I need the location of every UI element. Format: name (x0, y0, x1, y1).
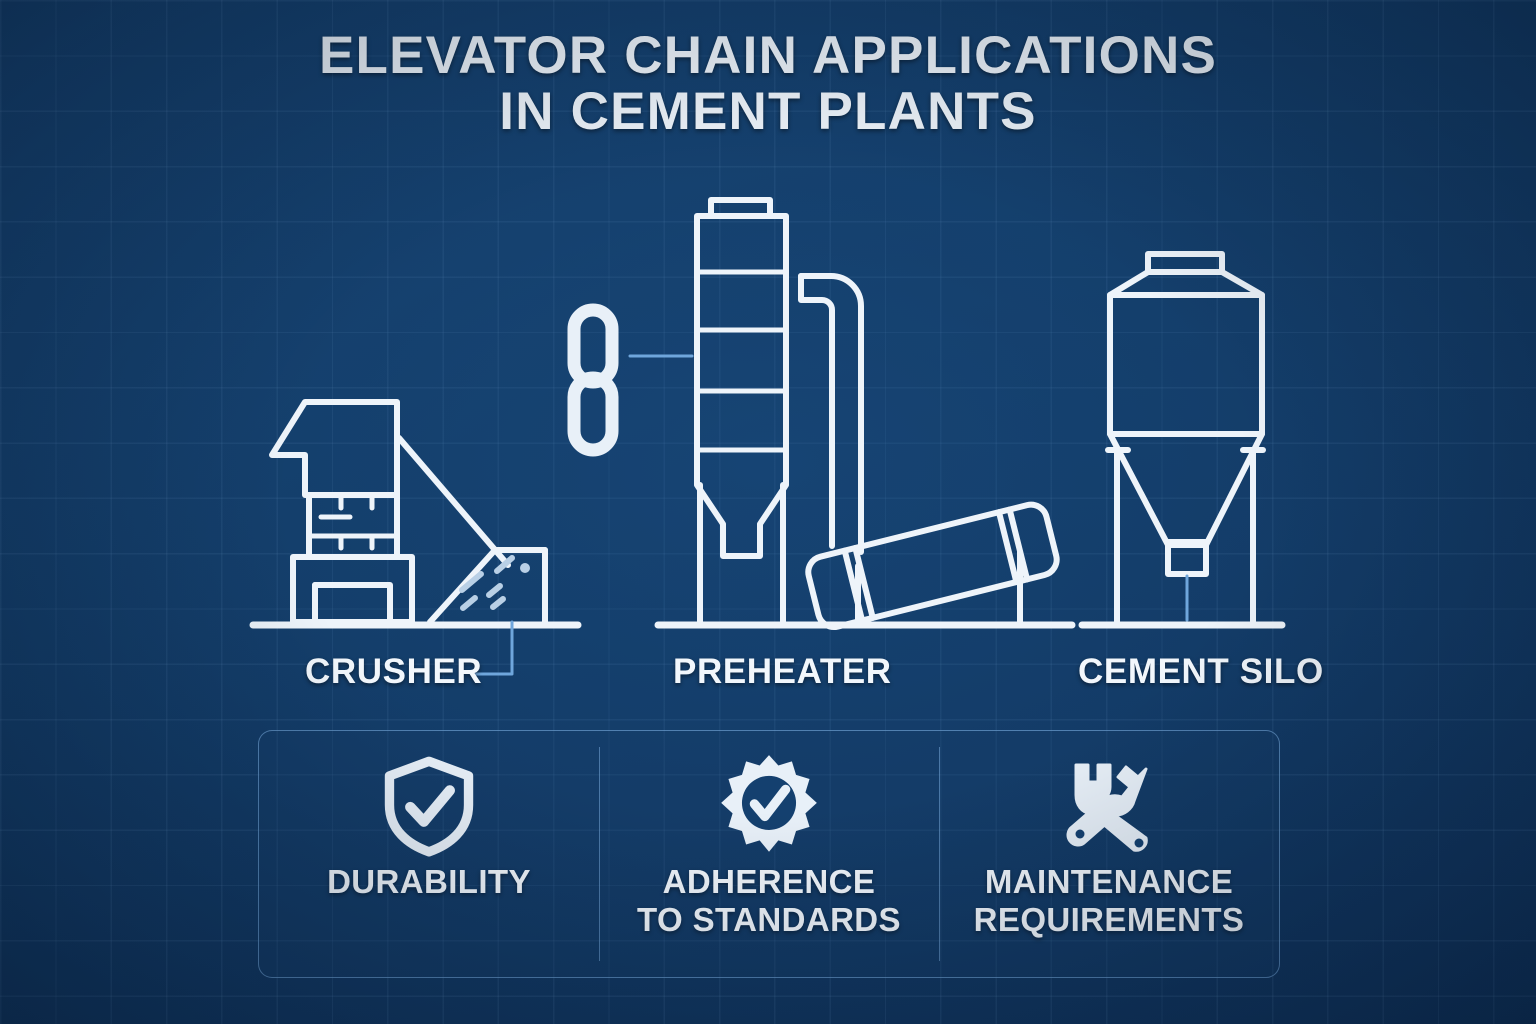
feature-panel: DURABILITY ADHERENCE TO STANDARDS (258, 730, 1280, 978)
infographic-canvas: ELEVATOR CHAIN APPLICATIONS IN CEMENT PL… (0, 0, 1536, 1024)
crusher-icon (272, 402, 545, 622)
cement-silo-icon (1108, 254, 1263, 622)
feature-durability[interactable]: DURABILITY (259, 731, 599, 977)
preheater-riser-duct-inner (801, 276, 832, 546)
equipment-label-cement-silo: CEMENT SILO (1078, 652, 1324, 692)
wrench-screwdriver-icon (1054, 753, 1164, 857)
feature-maintenance[interactable]: MAINTENANCE REQUIREMENTS (939, 731, 1279, 977)
silo-cone-hopper (1110, 434, 1262, 545)
crusher-hopper (272, 402, 397, 495)
silo-shoulder (1110, 272, 1262, 295)
crusher-material-marks (462, 558, 530, 608)
crusher-base (293, 557, 412, 622)
chain-link-lower (574, 378, 612, 450)
feature-label-maintenance: MAINTENANCE REQUIREMENTS (974, 863, 1245, 938)
equipment-label-crusher: CRUSHER (305, 652, 482, 692)
crusher-chute-arm (399, 438, 508, 565)
equipment-label-preheater: PREHEATER (673, 652, 892, 692)
crusher-body (309, 495, 397, 557)
silo-body (1110, 295, 1262, 434)
preheater-tower-body (697, 216, 786, 556)
crusher-base-opening (315, 585, 390, 622)
gear-check-icon (717, 753, 821, 857)
feature-label-durability: DURABILITY (327, 863, 531, 901)
chain-link-icon (574, 310, 612, 450)
shield-check-icon (377, 753, 481, 857)
chain-link-upper (574, 310, 612, 382)
preheater-tower-icon (697, 200, 861, 622)
feature-label-standards: ADHERENCE TO STANDARDS (637, 863, 901, 938)
crusher-discharge-bin (430, 550, 545, 622)
feature-standards[interactable]: ADHERENCE TO STANDARDS (599, 731, 939, 977)
